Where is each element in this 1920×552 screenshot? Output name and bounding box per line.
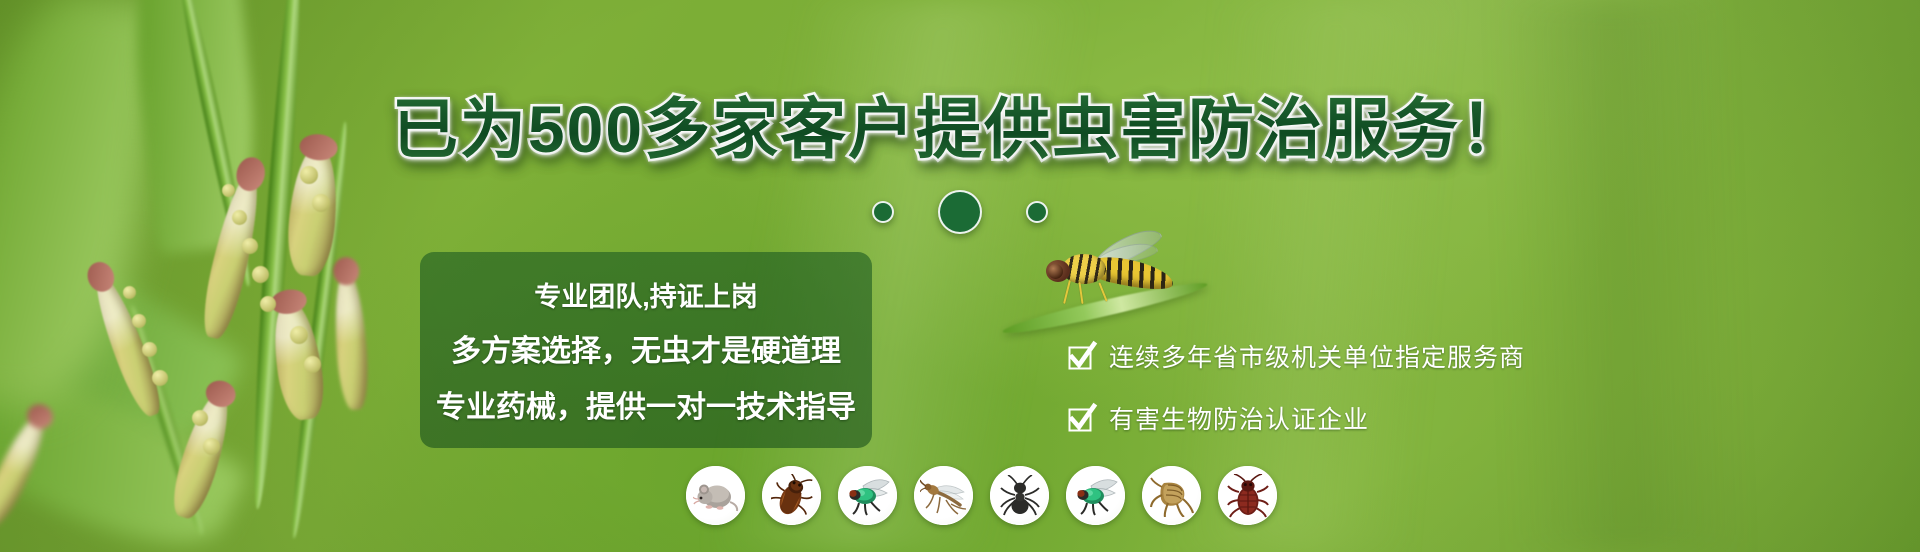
mosquito-icon <box>920 476 968 516</box>
list-item-label: 连续多年省市级机关单位指定服务商 <box>1109 338 1525 374</box>
ant-icon <box>999 475 1041 517</box>
pest-icon-flea[interactable] <box>1142 466 1201 525</box>
list-item: 连续多年省市级机关单位指定服务商 <box>1068 338 1525 374</box>
hoverfly-head <box>1046 260 1070 282</box>
slogan-line-1: 专业团队,持证上岗 <box>534 275 758 314</box>
fly-icon-2 <box>1073 476 1119 516</box>
hoverfly-icon <box>1040 244 1180 306</box>
mouse-icon <box>693 477 739 515</box>
dot-small-left-icon <box>872 201 894 223</box>
dot-small-right-icon <box>1026 201 1048 223</box>
hoverfly-leg <box>1078 282 1083 304</box>
checkbox-check-icon <box>1068 405 1095 432</box>
pest-icon-fly[interactable] <box>838 466 897 525</box>
list-item: 有害生物防治认证企业 <box>1068 400 1525 436</box>
page-title: 已为500多家客户提供虫害防治服务！ <box>0 76 1920 172</box>
flea-icon <box>1150 475 1194 517</box>
pest-icon-fly-2[interactable] <box>1066 466 1125 525</box>
bedbug-icon <box>1227 474 1269 518</box>
pest-control-hero-banner: 已为500多家客户提供虫害防治服务！ 已为500多家客户提供虫害防治服务！ 专业… <box>0 0 1920 552</box>
fly-icon <box>845 476 891 516</box>
pest-icon-mouse[interactable] <box>686 466 745 525</box>
hoverfly-leg <box>1098 282 1107 301</box>
pest-icon-ant[interactable] <box>990 466 1049 525</box>
pest-icon-row <box>686 466 1277 525</box>
credentials-checklist: 连续多年省市级机关单位指定服务商 有害生物防治认证企业 <box>1068 338 1525 436</box>
pest-icon-mosquito[interactable] <box>914 466 973 525</box>
slogan-line-2: 多方案选择，无虫才是硬道理 <box>451 326 841 370</box>
slogan-panel: 专业团队,持证上岗 多方案选择，无虫才是硬道理 专业药械，提供一对一技术指导 <box>420 252 872 448</box>
decorative-dot-group <box>0 190 1920 234</box>
slogan-line-3: 专业药械，提供一对一技术指导 <box>436 382 856 426</box>
checkbox-check-icon <box>1068 343 1095 370</box>
hoverfly-leg <box>1063 280 1071 304</box>
pest-icon-bedbug[interactable] <box>1218 466 1277 525</box>
pest-icon-cockroach[interactable] <box>762 466 821 525</box>
cockroach-icon <box>771 474 813 518</box>
hoverfly-eye <box>1048 264 1063 279</box>
dot-large-center-icon <box>938 190 982 234</box>
list-item-label: 有害生物防治认证企业 <box>1109 400 1369 436</box>
